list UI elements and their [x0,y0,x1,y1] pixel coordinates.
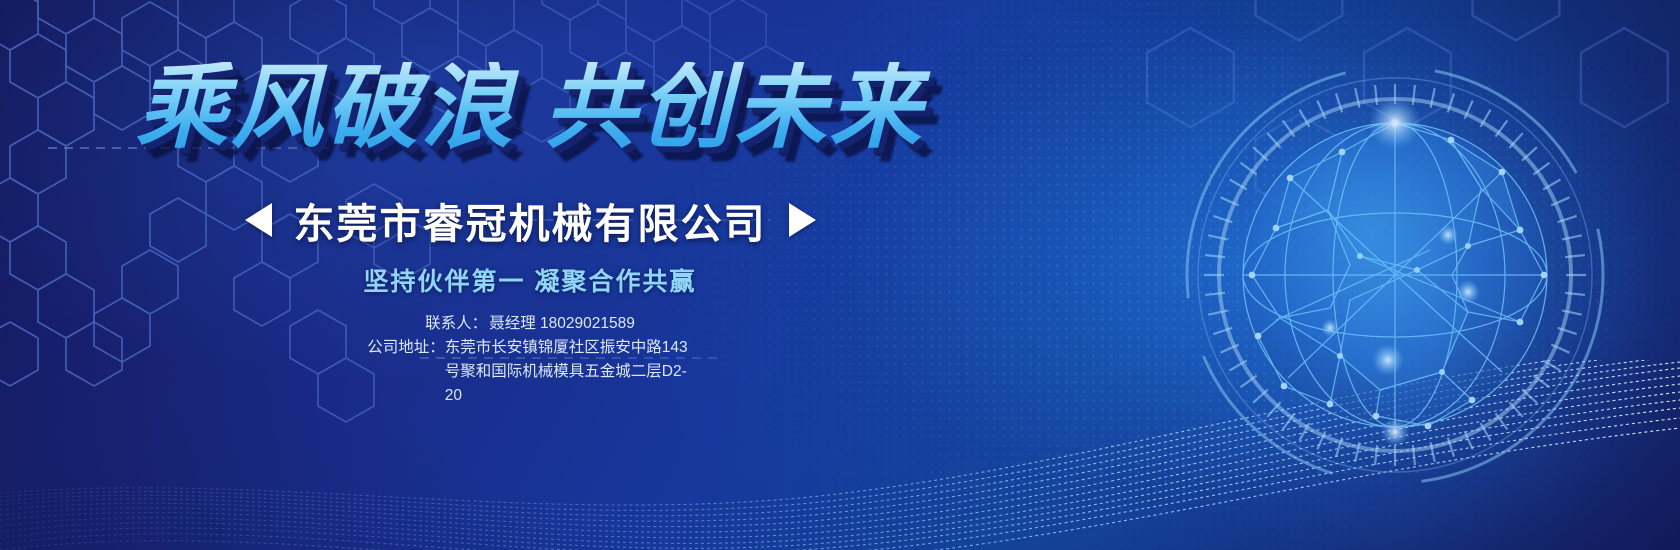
globe-glow [1090,0,1680,550]
headline-title: 乘风破浪 共创未来 [0,62,1060,156]
contact-address-line: 公司地址： 东莞市长安镇锦厦社区振安中路143号聚和国际机械模具五金城二层D2-… [0,336,1060,408]
company-name-row: 东莞市睿冠机械有限公司 [0,190,1060,250]
triangle-right-icon [789,203,816,237]
triangle-left-icon [245,203,272,237]
contact-address-label: 公司地址： [367,336,445,408]
promotional-banner: 乘风破浪 共创未来 东莞市睿冠机械有限公司 坚持伙伴第一 凝聚合作共赢 联系人：… [0,0,1680,550]
contact-person-label: 联系人： [425,312,487,336]
contact-person-line: 联系人： 聂经理 18029021589 [0,312,1060,336]
company-name: 东莞市睿冠机械有限公司 [294,190,767,250]
contact-block: 联系人： 聂经理 18029021589 公司地址： 东莞市长安镇锦厦社区振安中… [0,312,1060,408]
banner-content: 乘风破浪 共创未来 东莞市睿冠机械有限公司 坚持伙伴第一 凝聚合作共赢 联系人：… [0,0,1060,550]
contact-address-value: 东莞市长安镇锦厦社区振安中路143号聚和国际机械模具五金城二层D2-20 [445,336,693,408]
slogan-text: 坚持伙伴第一 凝聚合作共赢 [0,262,1060,298]
network-globe-graphic [1180,60,1610,490]
contact-person-value: 聂经理 18029021589 [489,312,635,336]
